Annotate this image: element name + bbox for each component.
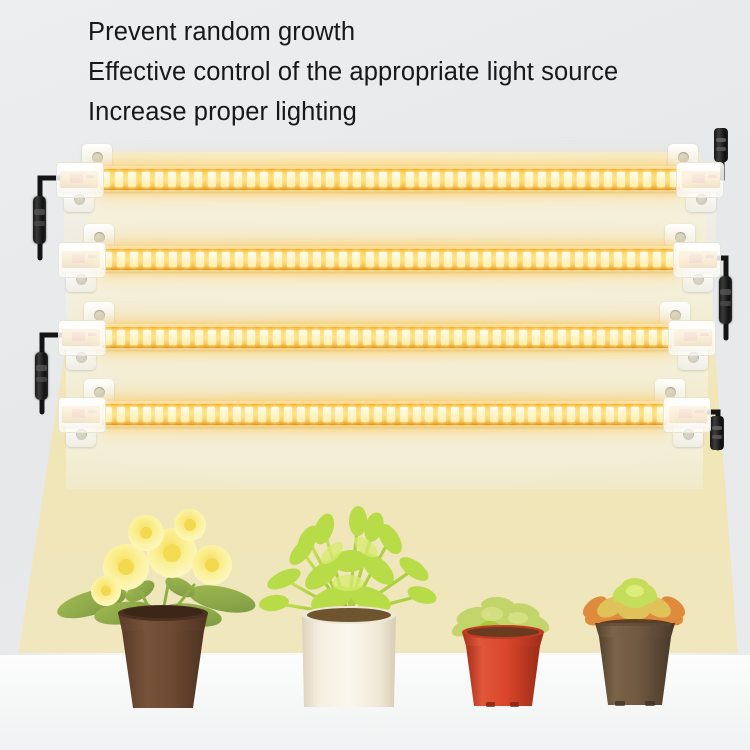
- led-chip: [580, 407, 588, 422]
- led-chip: [143, 252, 151, 267]
- endcap-right: [676, 162, 724, 198]
- led-chip: [402, 330, 410, 345]
- led-chip: [313, 252, 321, 267]
- led-chip: [313, 172, 321, 187]
- led-chip: [287, 252, 295, 267]
- led-chip: [392, 252, 400, 267]
- led-chip: [208, 330, 216, 345]
- endcap-right: [668, 320, 716, 356]
- led-chip: [348, 407, 356, 422]
- led-chip: [271, 407, 279, 422]
- led-chip: [287, 172, 295, 187]
- led-chip: [155, 407, 163, 422]
- led-chip: [130, 407, 138, 422]
- led-chip: [195, 330, 203, 345]
- led-chip: [653, 252, 661, 267]
- led-bar-3[interactable]: [62, 308, 712, 366]
- led-chip: [168, 407, 176, 422]
- led-chip: [511, 172, 519, 187]
- led-chip: [182, 252, 190, 267]
- led-chip: [564, 172, 572, 187]
- led-chip: [143, 407, 151, 422]
- led-chip: [297, 407, 305, 422]
- led-strip: [102, 249, 677, 270]
- yellow-flower-plant: [62, 495, 262, 710]
- led-chip: [335, 407, 343, 422]
- led-chip: [441, 330, 449, 345]
- led-chip: [464, 407, 472, 422]
- product-image-canvas: Prevent random growth Effective control …: [0, 0, 750, 750]
- power-plug-bottom: [710, 416, 724, 450]
- led-chip: [604, 172, 612, 187]
- led-chip: [352, 252, 360, 267]
- led-chip: [601, 252, 609, 267]
- led-strip: [102, 327, 672, 348]
- led-chip: [614, 252, 622, 267]
- led-chip: [509, 252, 517, 267]
- led-chip: [169, 252, 177, 267]
- led-chip: [419, 172, 427, 187]
- led-chip: [577, 172, 585, 187]
- led-chip: [405, 252, 413, 267]
- led-chip: [485, 172, 493, 187]
- led-chip-row: [104, 252, 675, 267]
- led-chip: [366, 252, 374, 267]
- led-chip: [233, 407, 241, 422]
- led-chip: [260, 330, 268, 345]
- led-chip: [444, 252, 452, 267]
- led-chip: [623, 330, 631, 345]
- led-chip: [498, 172, 506, 187]
- led-chip: [310, 407, 318, 422]
- led-chip: [392, 172, 400, 187]
- led-chip-row: [102, 172, 678, 187]
- led-chip: [376, 330, 384, 345]
- led-chip: [247, 172, 255, 187]
- led-chip: [181, 407, 189, 422]
- led-chip: [454, 330, 462, 345]
- led-bar-4[interactable]: [62, 385, 707, 443]
- led-chip: [366, 172, 374, 187]
- led-chip: [235, 252, 243, 267]
- led-chip: [523, 252, 531, 267]
- led-chip: [222, 252, 230, 267]
- led-chip: [220, 407, 228, 422]
- led-chip: [627, 252, 635, 267]
- led-chip: [545, 330, 553, 345]
- endcap-left: [56, 162, 104, 198]
- led-chip: [532, 330, 540, 345]
- led-chip: [117, 252, 125, 267]
- endcap-right: [673, 242, 721, 278]
- led-chip: [588, 252, 596, 267]
- led-chip: [324, 330, 332, 345]
- led-chip: [196, 252, 204, 267]
- led-chip: [431, 252, 439, 267]
- led-chip: [181, 172, 189, 187]
- led-strip: [100, 169, 680, 190]
- led-chip: [541, 407, 549, 422]
- led-chip: [549, 252, 557, 267]
- led-chip: [248, 252, 256, 267]
- led-chip: [115, 172, 123, 187]
- led-chip: [261, 252, 269, 267]
- led-chip: [142, 172, 150, 187]
- led-chip: [117, 407, 125, 422]
- led-chip: [428, 330, 436, 345]
- succulent-plant: [575, 565, 695, 710]
- led-chip: [567, 407, 575, 422]
- led-chip: [339, 252, 347, 267]
- led-chip-row: [104, 407, 665, 422]
- led-chip: [379, 252, 387, 267]
- led-chip: [169, 330, 177, 345]
- led-chip: [480, 330, 488, 345]
- led-chip: [117, 330, 125, 345]
- led-chip: [130, 252, 138, 267]
- led-chip: [562, 252, 570, 267]
- led-chip: [326, 172, 334, 187]
- led-chip: [467, 330, 475, 345]
- led-chip: [350, 330, 358, 345]
- led-chip: [323, 407, 331, 422]
- led-chip: [477, 407, 485, 422]
- led-chip: [554, 407, 562, 422]
- led-chip: [209, 252, 217, 267]
- led-chip: [406, 172, 414, 187]
- led-chip: [483, 252, 491, 267]
- led-chip: [234, 330, 242, 345]
- led-chip: [413, 407, 421, 422]
- led-chip: [458, 172, 466, 187]
- led-chip: [457, 252, 465, 267]
- fern-plant: [262, 495, 437, 710]
- led-chip: [374, 407, 382, 422]
- led-chip: [538, 172, 546, 187]
- cable-connector-1: [33, 196, 46, 244]
- cable-connector-3: [35, 352, 48, 400]
- led-chip: [519, 330, 527, 345]
- led-chip: [156, 330, 164, 345]
- led-chip: [418, 252, 426, 267]
- led-chip: [657, 172, 665, 187]
- led-chip: [551, 172, 559, 187]
- led-chip: [575, 252, 583, 267]
- led-chip: [260, 172, 268, 187]
- led-chip: [472, 172, 480, 187]
- led-chip: [337, 330, 345, 345]
- led-chip: [194, 172, 202, 187]
- led-chip: [506, 330, 514, 345]
- led-chip: [326, 252, 334, 267]
- led-chip: [363, 330, 371, 345]
- led-chip: [286, 330, 294, 345]
- led-chip: [299, 330, 307, 345]
- led-chip: [631, 407, 639, 422]
- endcap-left: [58, 242, 106, 278]
- led-chip: [387, 407, 395, 422]
- led-bar-1[interactable]: [60, 150, 720, 208]
- led-chip: [155, 172, 163, 187]
- led-chip: [258, 407, 266, 422]
- led-bar-2[interactable]: [62, 230, 717, 288]
- led-chip: [389, 330, 397, 345]
- led-chip: [221, 330, 229, 345]
- led-strip: [102, 404, 667, 425]
- led-chip: [274, 252, 282, 267]
- small-leafy-plant: [448, 580, 558, 710]
- led-chip: [379, 172, 387, 187]
- led-chip: [128, 172, 136, 187]
- led-chip: [168, 172, 176, 187]
- led-chip: [470, 252, 478, 267]
- led-chip: [194, 407, 202, 422]
- led-chip: [617, 172, 625, 187]
- led-chip: [312, 330, 320, 345]
- endcap-right: [663, 397, 711, 433]
- led-chip: [571, 330, 579, 345]
- led-chip: [273, 330, 281, 345]
- cable-connector-2: [719, 276, 732, 324]
- led-chip: [636, 330, 644, 345]
- led-chip: [340, 172, 348, 187]
- led-chip-row: [104, 330, 670, 345]
- led-chip: [597, 330, 605, 345]
- led-chip: [432, 172, 440, 187]
- led-chip: [525, 172, 533, 187]
- led-chip: [400, 407, 408, 422]
- led-chip: [182, 330, 190, 345]
- led-chip: [558, 330, 566, 345]
- led-chip: [640, 252, 648, 267]
- led-chip: [361, 407, 369, 422]
- endcap-left: [58, 320, 106, 356]
- led-chip: [493, 330, 501, 345]
- led-chip: [516, 407, 524, 422]
- led-chip: [593, 407, 601, 422]
- led-chip: [490, 407, 498, 422]
- led-chip: [245, 407, 253, 422]
- led-chip: [438, 407, 446, 422]
- led-chip: [234, 172, 242, 187]
- led-chip: [274, 172, 282, 187]
- led-chip: [584, 330, 592, 345]
- led-chip: [300, 252, 308, 267]
- led-chip: [156, 252, 164, 267]
- led-chip: [643, 172, 651, 187]
- led-chip: [503, 407, 511, 422]
- led-chip: [610, 330, 618, 345]
- led-chip: [618, 407, 626, 422]
- led-chip: [496, 252, 504, 267]
- led-chip: [130, 330, 138, 345]
- led-chip: [528, 407, 536, 422]
- led-chip: [143, 330, 151, 345]
- led-chip: [536, 252, 544, 267]
- led-chip: [221, 172, 229, 187]
- led-chip: [208, 172, 216, 187]
- led-chip: [247, 330, 255, 345]
- led-chip: [425, 407, 433, 422]
- led-chip: [649, 330, 657, 345]
- led-chip: [630, 172, 638, 187]
- led-chip: [606, 407, 614, 422]
- led-chip: [207, 407, 215, 422]
- endcap-left: [58, 397, 106, 433]
- led-chip: [353, 172, 361, 187]
- led-chip: [591, 172, 599, 187]
- led-chip: [415, 330, 423, 345]
- led-chip: [451, 407, 459, 422]
- led-chip: [284, 407, 292, 422]
- led-chip: [300, 172, 308, 187]
- led-chip: [644, 407, 652, 422]
- led-chip: [445, 172, 453, 187]
